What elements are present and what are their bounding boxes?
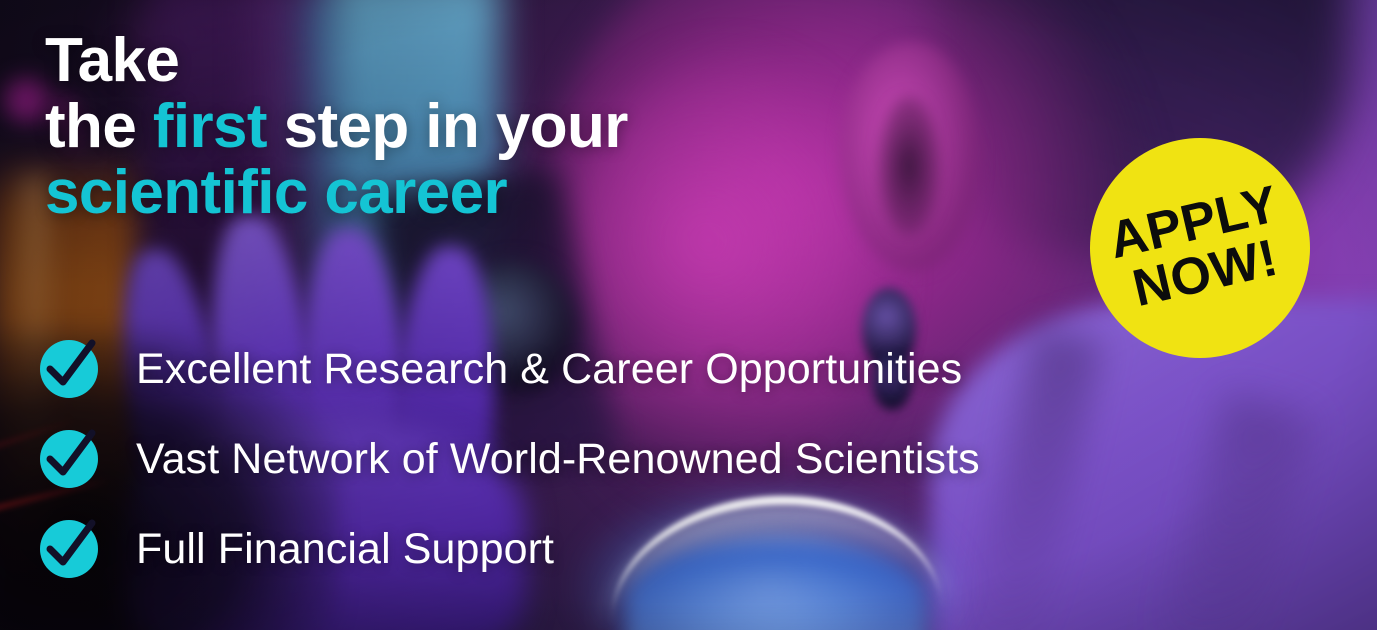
check-circle-icon (40, 340, 98, 398)
list-item: Excellent Research & Career Opportunitie… (40, 330, 980, 408)
headline-line-3: scientific career (45, 160, 628, 226)
headline-line-1-text: Take (45, 26, 179, 95)
check-circle-icon (40, 430, 98, 488)
list-item: Full Financial Support (40, 510, 980, 588)
headline-line-2-post: step in your (267, 92, 628, 161)
headline-line-3-text: scientific career (45, 158, 507, 227)
benefit-label: Vast Network of World-Renowned Scientist… (136, 436, 980, 482)
benefit-label: Excellent Research & Career Opportunitie… (136, 346, 962, 392)
list-item: Vast Network of World-Renowned Scientist… (40, 420, 980, 498)
headline: Take the first step in your scientific c… (45, 28, 628, 226)
headline-line-2: the first step in your (45, 94, 628, 160)
benefit-label: Full Financial Support (136, 526, 554, 572)
headline-accent-word: first (153, 92, 267, 161)
headline-line-1: Take (45, 28, 628, 94)
check-circle-icon (40, 520, 98, 578)
benefits-list: Excellent Research & Career Opportunitie… (40, 330, 980, 600)
apply-now-label: APPLY NOW! (1105, 178, 1295, 318)
recruitment-banner: Take the first step in your scientific c… (0, 0, 1377, 630)
headline-line-2-pre: the (45, 92, 153, 161)
apply-now-button[interactable]: APPLY NOW! (1090, 138, 1310, 358)
